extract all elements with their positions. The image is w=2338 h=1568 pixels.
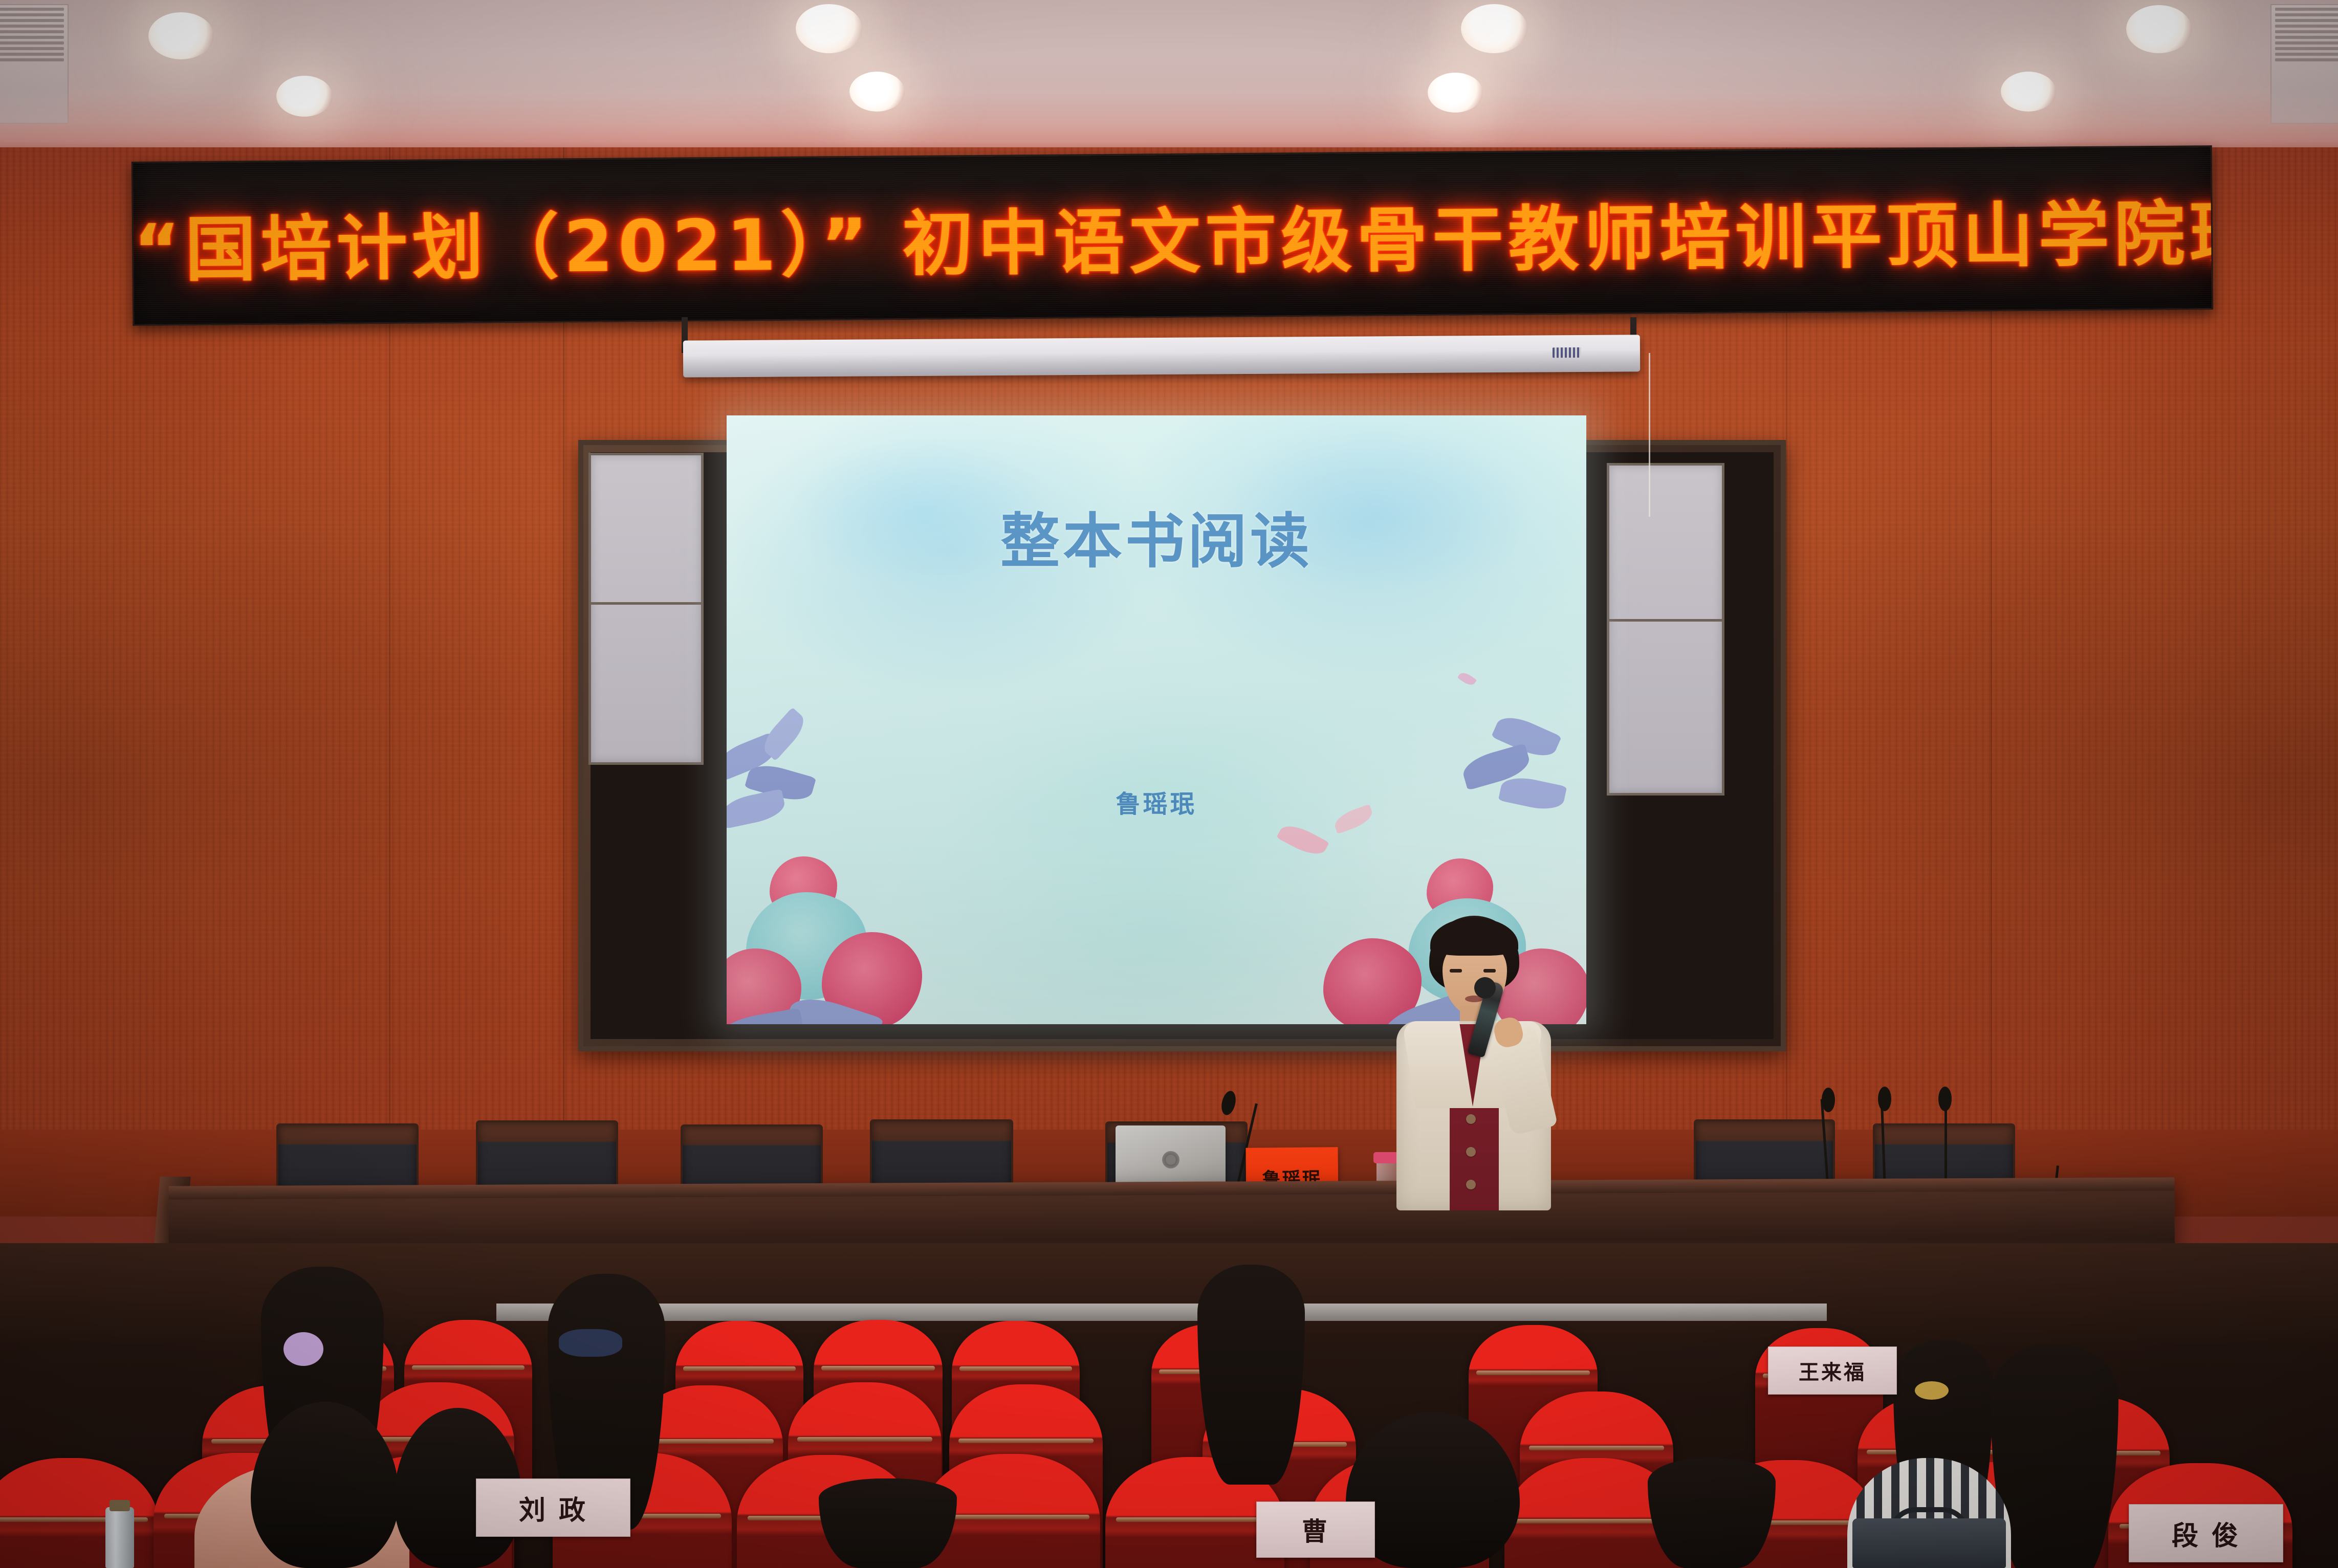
led-scrolling-banner: “国培计划（2021）” 初中语文市级骨干教师培训平顶山学院班 bbox=[132, 145, 2213, 326]
audience-bag bbox=[1852, 1518, 2006, 1568]
presenter bbox=[1389, 916, 1558, 1207]
presenter-fringe bbox=[1430, 918, 1518, 956]
seat-name-card-text: 刘 政 bbox=[519, 1489, 587, 1527]
seat-name-card: 段 俊 bbox=[2129, 1504, 2283, 1562]
seat-name-card-text: 王来福 bbox=[1799, 1356, 1866, 1385]
presenter-eye-right bbox=[1483, 969, 1496, 973]
attendee-hair-9 bbox=[1648, 1458, 1776, 1568]
gooseneck-mic-head-4 bbox=[1938, 1087, 1952, 1111]
attendee-hair-5 bbox=[1197, 1265, 1305, 1485]
lecture-hall-photo: “国培计划（2021）” 初中语文市级骨干教师培训平顶山学院班 bbox=[0, 0, 2338, 1568]
seat-name-card-text: 段 俊 bbox=[2172, 1514, 2240, 1553]
ceiling-downlight-1 bbox=[148, 12, 214, 59]
seat-name-card: 曹 bbox=[1256, 1501, 1375, 1558]
seat-name-card: 刘 政 bbox=[476, 1478, 630, 1537]
led-banner-text: “国培计划（2021）” 初中语文市级骨干教师培训平顶山学院班 bbox=[133, 176, 2211, 295]
thermos-cap bbox=[110, 1500, 130, 1511]
gooseneck-mic-head-2 bbox=[1822, 1088, 1835, 1112]
projector-screen-roller[interactable] bbox=[683, 335, 1640, 377]
seat-name-card: 王来福 bbox=[1768, 1346, 1897, 1395]
roller-brand-label-icon bbox=[1553, 347, 1581, 358]
ceiling-downlight-2 bbox=[796, 4, 862, 53]
ceiling-downlight-4 bbox=[2126, 5, 2192, 53]
presenter-coat-button-3 bbox=[1466, 1180, 1476, 1189]
attendee-hair-10 bbox=[819, 1478, 957, 1568]
thermos-bottle[interactable] bbox=[105, 1507, 134, 1568]
slide-author-name: 鲁瑶珉 bbox=[727, 784, 1586, 820]
presenter-coat-button-2 bbox=[1466, 1147, 1476, 1157]
attendee-scrunchie-1 bbox=[283, 1332, 323, 1366]
seating-rail bbox=[496, 1304, 1827, 1321]
screen-pull-wire bbox=[1649, 353, 1650, 517]
attendee-clip-7 bbox=[1915, 1381, 1949, 1400]
hp-logo-icon bbox=[1162, 1151, 1179, 1168]
presenter-coat-button-1 bbox=[1466, 1114, 1476, 1124]
gooseneck-mic-head-3 bbox=[1878, 1087, 1891, 1111]
presenter-eye-left bbox=[1450, 969, 1462, 973]
slide-title: 整本书阅读 bbox=[727, 493, 1586, 579]
whiteboard-panel-left bbox=[588, 453, 704, 765]
ceiling bbox=[0, 0, 2338, 153]
seat-row-c-1[interactable] bbox=[0, 1458, 159, 1568]
seat-name-card-text: 曹 bbox=[1302, 1511, 1329, 1548]
slide-petal-float-3 bbox=[1457, 670, 1477, 688]
ceiling-downlight-3 bbox=[1461, 4, 1527, 53]
attendee-bow-2 bbox=[559, 1329, 622, 1357]
whiteboard-panel-right bbox=[1607, 463, 1724, 796]
